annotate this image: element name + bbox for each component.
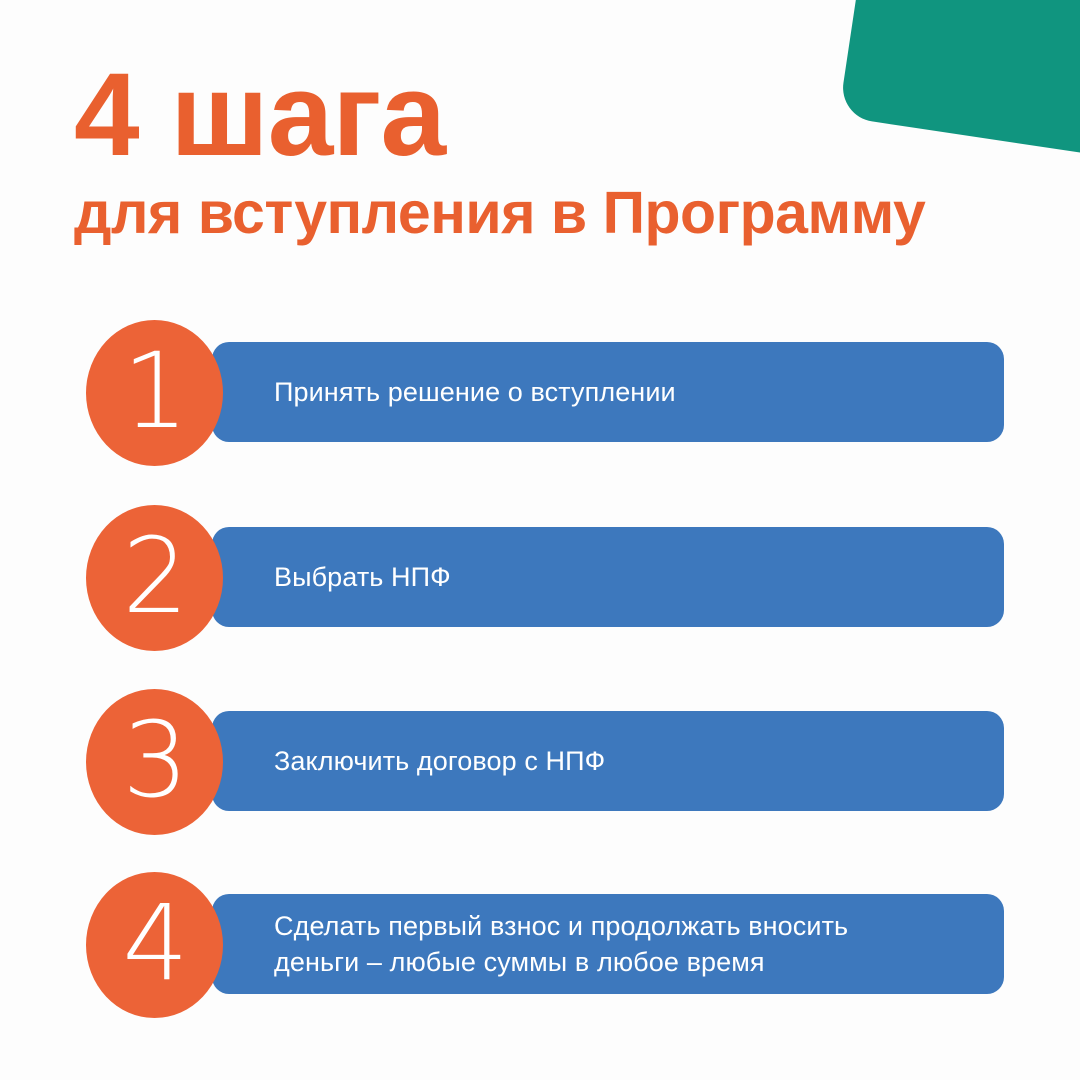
step-bar-2: Выбрать НПФ xyxy=(212,527,1004,627)
steps-list: Принять решение о вступлении 1 Выбрать Н… xyxy=(0,0,1080,1080)
step-label-2: Выбрать НПФ xyxy=(274,559,974,595)
step-badge-1: 1 xyxy=(86,320,223,466)
step-number-3: 3 xyxy=(86,708,223,812)
step-bar-1: Принять решение о вступлении xyxy=(212,342,1004,442)
list-item: Сделать первый взнос и продолжать вносит… xyxy=(0,872,1080,1018)
step-label-4: Сделать первый взнос и продолжать вносит… xyxy=(274,908,974,980)
list-item: Заключить договор с НПФ 3 xyxy=(0,689,1080,835)
step-number-4: 4 xyxy=(86,891,223,995)
step-label-3: Заключить договор с НПФ xyxy=(274,743,974,779)
infographic-poster: 4 шага для вступления в Программу Принят… xyxy=(0,0,1080,1080)
step-badge-3: 3 xyxy=(86,689,223,835)
step-label-1: Принять решение о вступлении xyxy=(274,374,974,410)
step-bar-4: Сделать первый взнос и продолжать вносит… xyxy=(212,894,1004,994)
step-badge-2: 2 xyxy=(86,505,223,651)
step-number-2: 2 xyxy=(86,524,223,628)
step-badge-4: 4 xyxy=(86,872,223,1018)
step-number-1: 1 xyxy=(86,339,223,443)
list-item: Принять решение о вступлении 1 xyxy=(0,320,1080,466)
step-bar-3: Заключить договор с НПФ xyxy=(212,711,1004,811)
list-item: Выбрать НПФ 2 xyxy=(0,505,1080,651)
